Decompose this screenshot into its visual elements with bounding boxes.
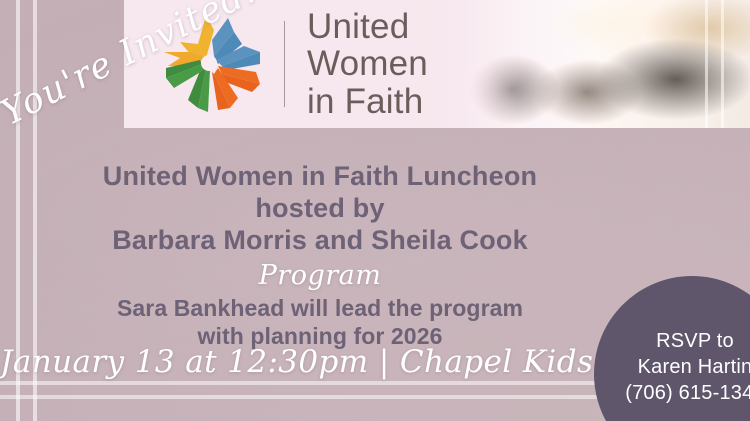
page-title: United Women in Faith Luncheon hosted by…: [0, 160, 640, 256]
banner-stripe-1: [705, 0, 708, 128]
logo-wordmark: United Women in Faith: [307, 8, 428, 119]
program-description: Sara Bankhead will lead the program with…: [0, 295, 640, 350]
program-label: Program: [0, 260, 640, 291]
banner-photo-fade: [410, 0, 750, 128]
main-content: United Women in Faith Luncheon hosted by…: [0, 160, 640, 351]
invitation-flyer: United Women in Faith You're Invited... …: [0, 0, 750, 421]
banner-stripe-2: [721, 0, 724, 128]
event-details: January 13 at 12:30pm | Chapel Kids Room: [0, 344, 620, 380]
logo-divider: [284, 21, 285, 107]
rsvp-text: RSVP to Karen Hartin (706) 615-1347: [625, 328, 750, 406]
